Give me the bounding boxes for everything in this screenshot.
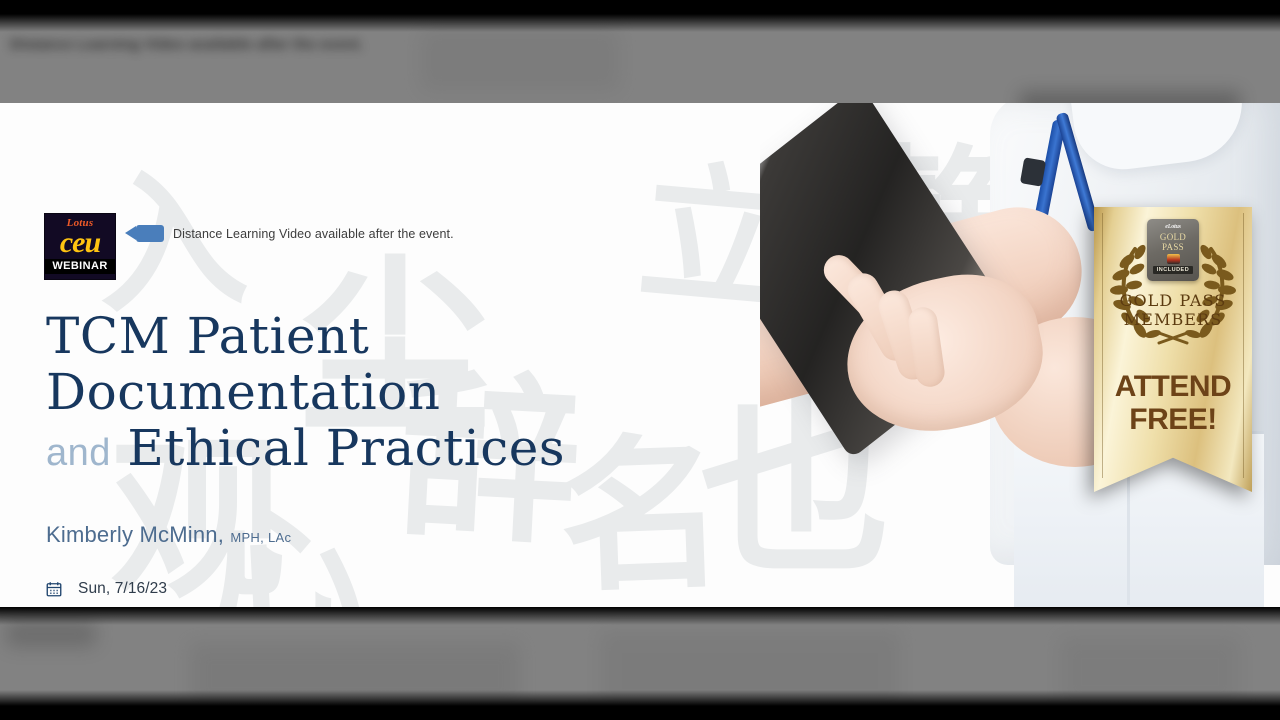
lotus-ceu-webinar-logo[interactable]: Lotus ceu WEBINAR <box>44 213 116 280</box>
gold-pass-card-icon: eLotus GOLD PASS INCLUDED <box>1147 219 1199 281</box>
presenter-name: Kimberly McMinn, MPH, LAc <box>46 522 291 548</box>
badge-title: GOLD PASS MEMBERS <box>1094 291 1252 329</box>
lanyard-clip <box>1020 157 1046 186</box>
card-pass-text: PASS <box>1162 242 1184 252</box>
badge-rule-right <box>1243 213 1244 478</box>
badge-rule-left <box>1102 213 1103 478</box>
logo-ceu-text: ceu <box>60 230 100 256</box>
blurred-backdrop-bottom <box>0 607 1280 706</box>
blurred-backdrop-top: Distance Learning Video available after … <box>0 14 1280 103</box>
card-emblem-icon <box>1167 254 1180 264</box>
event-details-list: Sun, 7/16/23 8am PT / 10am CT / 11am ET <box>44 579 286 607</box>
card-included-label: INCLUDED <box>1153 266 1193 274</box>
video-frame: Distance Learning Video available after … <box>0 0 1280 720</box>
video-camera-icon <box>136 225 164 242</box>
presenter-fullname: Kimberly McMinn, <box>46 522 224 547</box>
card-brand-text: eLotus <box>1165 224 1180 230</box>
page-title: TCM Patient Documentation and Ethical Pr… <box>46 311 686 473</box>
detail-text-date: Sun, 7/16/23 <box>78 580 167 598</box>
calendar-icon <box>44 579 64 599</box>
badge-cta-line-1: ATTEND <box>1094 370 1252 403</box>
backdrop-blurred-text: Distance Learning Video available after … <box>10 36 363 53</box>
title-line-3-text: Ethical Practices <box>127 419 565 477</box>
title-connector: and <box>46 432 111 474</box>
badge-cta: ATTEND FREE! <box>1094 370 1252 436</box>
distance-learning-notice: Distance Learning Video available after … <box>136 225 454 242</box>
presenter-credentials: MPH, LAc <box>230 530 291 545</box>
badge-title-line-2: MEMBERS <box>1094 310 1252 329</box>
detail-row-date: Sun, 7/16/23 <box>44 579 286 599</box>
webinar-banner-panel: 入 尘 辞 观 名 也 立 静 心 <box>0 103 1280 607</box>
title-line-3: and Ethical Practices <box>46 423 686 473</box>
distance-learning-text: Distance Learning Video available after … <box>173 227 454 241</box>
title-line-1: TCM Patient <box>46 311 686 361</box>
logo-webinar-text: WEBINAR <box>45 259 115 274</box>
card-gold-text: GOLD <box>1160 232 1186 242</box>
badge-title-line-1: GOLD PASS <box>1094 291 1252 310</box>
gold-pass-badge[interactable]: eLotus GOLD PASS INCLUDED GOLD PASS MEMB… <box>1094 207 1252 492</box>
title-line-2: Documentation <box>46 367 686 417</box>
badge-cta-line-2: FREE! <box>1094 403 1252 436</box>
